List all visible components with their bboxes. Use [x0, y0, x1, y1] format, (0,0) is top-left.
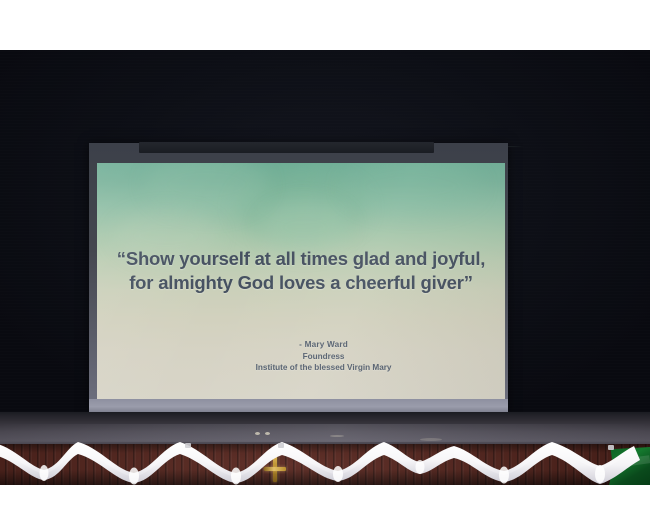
- drapery-swags: [0, 440, 650, 488]
- letterbox-bottom: [0, 485, 650, 532]
- stage-photograph: “Show yourself at all times glad and joy…: [0, 0, 650, 532]
- projection-screen: “Show yourself at all times glad and joy…: [89, 143, 508, 413]
- attribution-role: Foundress: [148, 351, 499, 363]
- drape-gather: [129, 468, 139, 485]
- drape-clip: [278, 443, 284, 448]
- slide-quote-text: “Show yourself at all times glad and joy…: [97, 247, 505, 295]
- drape-gather: [333, 466, 343, 482]
- attribution-name: - Mary Ward: [148, 339, 499, 351]
- screen-valance-bar: [139, 142, 434, 153]
- floor-glint: [330, 435, 344, 437]
- slide-surface: “Show yourself at all times glad and joy…: [97, 163, 505, 399]
- drape-gather: [416, 460, 425, 474]
- floor-glint: [255, 432, 260, 435]
- drape-gather: [595, 465, 605, 483]
- drape-gather: [40, 465, 49, 481]
- slide-cloud-texture: [342, 163, 481, 215]
- slide-cloud-texture: [260, 201, 350, 253]
- drape-clip: [185, 443, 191, 448]
- drape-gather: [231, 468, 241, 485]
- floor-glint: [265, 432, 270, 435]
- screen-lower-bezel: [89, 399, 508, 413]
- attribution-organisation: Institute of the blessed Virgin Mary: [148, 362, 499, 374]
- slide-attribution: - Mary Ward Foundress Institute of the b…: [148, 339, 499, 374]
- drape-gather: [499, 467, 509, 484]
- letterbox-top: [0, 0, 650, 50]
- drape-clip: [608, 445, 614, 450]
